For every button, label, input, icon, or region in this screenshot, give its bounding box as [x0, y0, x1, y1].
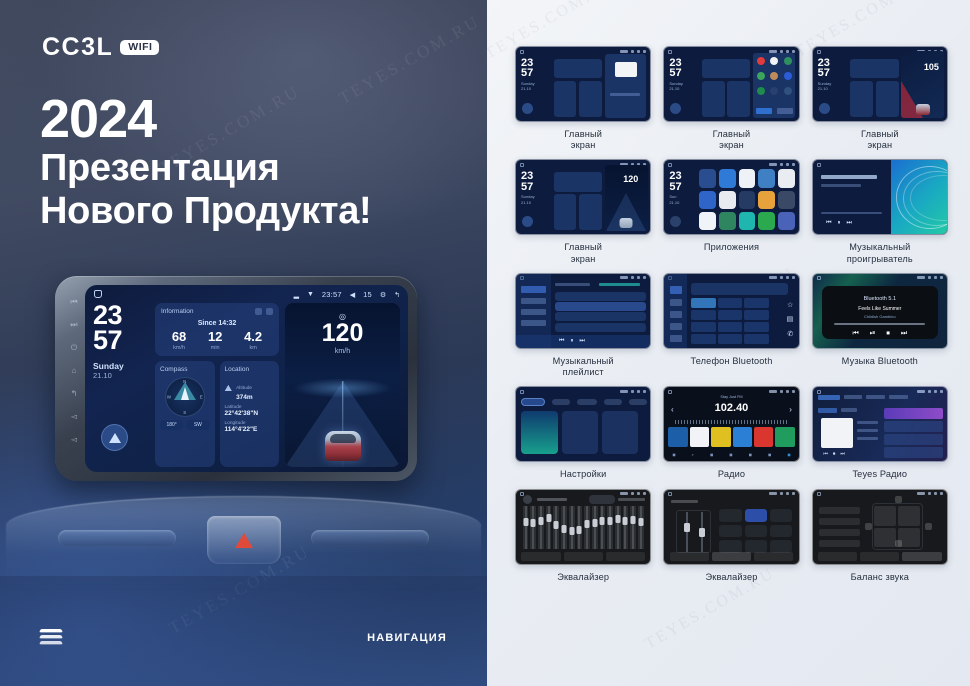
settings-tab[interactable]	[604, 399, 622, 405]
balance-tab[interactable]	[818, 552, 857, 561]
compass-s: S	[183, 410, 186, 415]
thumbnail-bluetooth-phone[interactable]: ☆ ▤ ✆	[663, 273, 799, 349]
equalizer-bands[interactable]	[523, 506, 644, 549]
gallery-item[interactable]: Bluetooth 5.1 Feels Like Summer Childish…	[812, 273, 948, 378]
next-station-icon[interactable]: ›	[789, 405, 792, 414]
gallery-item[interactable]: 2357 Sun21.10	[663, 159, 799, 264]
thumbnail-equalizer-presets[interactable]	[663, 489, 799, 565]
thumbnail-home-speed[interactable]: 2357 Sunday21.10 120	[515, 159, 651, 235]
balance-presets[interactable]	[819, 507, 859, 547]
bt-version: Bluetooth 5.1	[813, 296, 947, 302]
thumbnail-bluetooth-music[interactable]: Bluetooth 5.1 Feels Like Summer Childish…	[812, 273, 948, 349]
caption: Музыкальный плейлист	[553, 356, 614, 378]
next-track-key[interactable]: ⏭	[70, 321, 77, 329]
head-unit: ⏮ ⏭ ⏻ ⌂ ↰ ◅ ◅ ▂ ▼ 23:57	[55, 276, 417, 481]
mini-status-bar	[917, 492, 943, 495]
gallery-item[interactable]: Stay Just FM 102.40 ‹ › ◼	[663, 386, 799, 480]
signal-icon: ▂	[294, 291, 299, 299]
compass-heading: 180°	[160, 420, 183, 430]
caption: Приложения	[704, 242, 759, 253]
thumbnail-settings[interactable]	[515, 386, 651, 462]
dashboard-shadow	[0, 576, 487, 686]
caption: Телефон Bluetooth	[690, 356, 772, 367]
altitude-label: Altitude	[236, 386, 252, 391]
eq-preset[interactable]	[770, 509, 792, 522]
eq-preset[interactable]	[745, 525, 767, 538]
app-icon	[739, 169, 756, 187]
head-unit-side-keys[interactable]: ⏮ ⏭ ⏻ ⌂ ↰ ◅ ◅	[64, 298, 84, 444]
stat-value: 68	[172, 330, 186, 343]
navigation-arrow-icon[interactable]	[101, 424, 128, 451]
equalizer-tabs[interactable]	[670, 552, 794, 561]
station-row[interactable]	[884, 421, 943, 432]
album-art	[821, 418, 853, 448]
stop-icon[interactable]: ⏹	[886, 330, 890, 338]
caption: Музыкальный проигрыватель	[847, 242, 913, 264]
balance-preset[interactable]	[819, 529, 859, 536]
next-icon[interactable]: ⏭	[847, 220, 852, 227]
thumbnail-grid: 2357 Sunday21.10 Главный экран 23	[515, 46, 948, 583]
home-icon	[520, 163, 524, 167]
gallery-item[interactable]: Баланс звука	[812, 489, 948, 583]
latitude-value: 22°42'38"N	[225, 410, 275, 417]
speed-value: 120	[322, 321, 364, 346]
preset-6[interactable]	[775, 427, 794, 446]
call-icon[interactable]: ✆	[787, 330, 793, 338]
home-icon[interactable]	[94, 290, 102, 298]
station-row[interactable]	[884, 408, 943, 419]
balance-left-button[interactable]	[865, 523, 872, 530]
home-icon	[668, 50, 672, 54]
head-unit-screen[interactable]: ▂ ▼ 23:57 ◀ 15 ⚙ ↰ 23 57	[85, 285, 408, 472]
headline-block: 2024 Презентация Нового Продукта!	[40, 92, 371, 234]
traffic-tile[interactable]	[562, 411, 598, 454]
clock-minutes: 57	[93, 328, 149, 353]
head-unit-bezel: ⏮ ⏭ ⏻ ⌂ ↰ ◅ ◅ ▂ ▼ 23:57	[55, 276, 417, 481]
navigation-label: НАВИГАЦИЯ	[367, 632, 447, 644]
speed-value: 120	[623, 174, 638, 184]
gallery-item[interactable]: Настройки	[515, 386, 651, 480]
app-icon	[699, 212, 716, 230]
stat-unit: km	[244, 345, 262, 351]
app-icon	[758, 169, 775, 187]
screenshot-gallery: TEYES.COM.RU TEYES.COM.RU TEYES.COM.RU T…	[487, 0, 970, 686]
radio-tool-icon[interactable]: ◼	[672, 452, 675, 457]
stat-unit: min	[208, 345, 222, 351]
presentation-slide: TEYES.COM.RU TEYES.COM.RU TEYES.COM.RU C…	[0, 0, 970, 686]
caption: Главный экран	[713, 129, 751, 151]
mini-status-bar	[769, 276, 795, 279]
prev-icon[interactable]: ⏮	[823, 451, 828, 457]
home-icon	[817, 492, 821, 496]
prev-icon[interactable]: ⏮	[826, 220, 831, 227]
thumbnail-home-media[interactable]: 2357 Sunday21.10	[515, 46, 651, 122]
compass-direction: SW	[186, 420, 209, 430]
home-icon	[817, 276, 821, 280]
gallery-item[interactable]: Эквалайзер	[515, 489, 651, 583]
next-icon[interactable]: ⏭	[901, 330, 907, 338]
headline-line-1: Презентация	[40, 147, 371, 190]
mini-status-bar	[769, 492, 795, 495]
app-icon	[739, 212, 756, 230]
gallery-item[interactable]: 2357 Sunday21.10 120 Главный экран	[515, 159, 651, 264]
app-icon	[758, 212, 775, 230]
radio-tool-icon[interactable]: ◼	[710, 452, 713, 457]
app-icon	[739, 191, 756, 209]
thumbnail-playlist[interactable]: ⏮ ⏸ ⏭	[515, 273, 651, 349]
stat-item: 68 km/h	[172, 330, 186, 351]
back-arrow-icon[interactable]: ↰	[394, 291, 400, 299]
drive-assist-widget[interactable]: ◎ 120 km/h	[285, 303, 400, 467]
stat-item: 12 min	[208, 330, 222, 351]
eq-tab[interactable]	[712, 552, 751, 561]
home-icon	[668, 163, 672, 167]
stat-value: 12	[208, 330, 222, 343]
prev-icon[interactable]: ⏮	[559, 338, 564, 345]
stat-item: 4.2 km	[244, 330, 262, 351]
eq-tab[interactable]	[521, 552, 560, 561]
eq-avatar-icon	[523, 495, 532, 504]
thumbnail-radio[interactable]: Stay Just FM 102.40 ‹ › ◼	[663, 386, 799, 462]
eq-tab[interactable]	[754, 552, 793, 561]
prev-station-icon[interactable]: ‹	[671, 405, 674, 414]
eq-tab[interactable]	[606, 552, 645, 561]
back-key[interactable]: ↰	[71, 390, 78, 398]
refresh-icon[interactable]	[255, 308, 262, 315]
home-icon	[668, 390, 672, 394]
altitude-value: 374m	[236, 394, 253, 401]
thumbnail-music-player[interactable]: ⏮ ⏸ ⏭	[812, 159, 948, 235]
eq-tab[interactable]	[670, 552, 709, 561]
wifi-badge: WIFI	[120, 40, 159, 56]
radio-tool-icon[interactable]: ◼	[749, 452, 752, 457]
mini-status-bar	[769, 390, 795, 393]
home-icon	[520, 50, 524, 54]
preset-5[interactable]	[754, 427, 773, 446]
hazard-triangle-icon	[235, 533, 253, 548]
mini-status-bar	[620, 276, 646, 279]
home-screen-content: 23 57 Sunday 21.10	[93, 303, 400, 467]
volume-down-key[interactable]: ◅	[71, 413, 77, 421]
thumbnail-apps-grid[interactable]: 2357 Sun21.10	[663, 159, 799, 235]
brand-name: CC3L	[42, 33, 113, 62]
eq-tab[interactable]	[564, 552, 603, 561]
app-icon	[778, 191, 795, 209]
clock-weekday: Sunday	[93, 361, 149, 371]
caption: Эквалайзер	[557, 572, 609, 583]
mini-status-bar	[620, 50, 646, 53]
compass-widget[interactable]: Compass N S W E	[155, 361, 215, 467]
longitude-value: 114°4'22"E	[225, 426, 275, 433]
next-icon[interactable]: ⏭	[840, 451, 845, 457]
home-icon	[668, 492, 672, 496]
stat-unit: km/h	[172, 345, 186, 351]
eq-preset-button[interactable]	[589, 495, 615, 504]
caption: Музыка Bluetooth	[842, 356, 918, 367]
preset-2[interactable]	[690, 427, 709, 446]
station-row[interactable]	[884, 434, 943, 445]
eq-preset[interactable]	[719, 525, 741, 538]
stat-value: 4.2	[244, 330, 262, 343]
balance-preset[interactable]	[819, 540, 859, 547]
app-icon	[719, 169, 736, 187]
information-title: Information	[161, 308, 194, 315]
home-icon	[817, 50, 821, 54]
caption: Главный экран	[564, 242, 602, 264]
next-icon[interactable]: ⏭	[579, 338, 584, 345]
back-icon[interactable]	[670, 216, 681, 227]
radio-tool-icon[interactable]: ◼	[787, 452, 790, 457]
since-label: Since 14:32	[161, 320, 273, 327]
compass-w: W	[167, 395, 171, 400]
radio-band: Stay Just FM	[664, 395, 798, 399]
settings-tab[interactable]	[629, 399, 647, 405]
navigation-arrow-icon[interactable]	[670, 103, 681, 114]
caption: Teyes Радио	[852, 469, 907, 480]
play-pause-icon[interactable]: ⏯	[870, 330, 876, 338]
air-vent-left	[58, 530, 176, 546]
gallery-item[interactable]: 2357 Sunday21.10 Главный экран	[515, 46, 651, 151]
volume-up-key[interactable]: ◅	[71, 436, 77, 444]
balance-tab[interactable]	[860, 552, 899, 561]
eq-preset[interactable]	[745, 509, 767, 522]
wifi-tile[interactable]	[521, 411, 557, 454]
mini-status-bar	[917, 276, 943, 279]
status-bar: ▂ ▼ 23:57 ◀ 15 ⚙ ↰	[294, 290, 400, 299]
caption: Радио	[718, 469, 745, 480]
thumbnail-home-apps[interactable]: 2357 Sunday21.10	[663, 46, 799, 122]
volume-level: 15	[363, 290, 372, 299]
gear-icon[interactable]: ⚙	[380, 291, 386, 299]
compass-title: Compass	[160, 366, 187, 373]
home-icon	[520, 390, 524, 394]
balance-tabs[interactable]	[818, 552, 942, 561]
air-vent-right	[311, 530, 429, 546]
eq-preset[interactable]	[719, 509, 741, 522]
settings-tab-wifi[interactable]	[521, 398, 545, 406]
caption: Главный экран	[564, 129, 602, 151]
mountain-icon: ⛰	[225, 383, 233, 394]
preset-4[interactable]	[733, 427, 752, 446]
home-key[interactable]: ⌂	[72, 367, 77, 375]
gallery-item[interactable]: 2357 Sunday21.10 105 Главный экран	[812, 46, 948, 151]
tuner-scale[interactable]	[675, 420, 788, 424]
app-icon	[758, 191, 775, 209]
wifi-icon: ▼	[307, 291, 314, 298]
gallery-item[interactable]: ☆ ▤ ✆ Телефон Bluetooth	[663, 273, 799, 378]
star-icon[interactable]: ☆	[787, 301, 793, 309]
navigation-arrow-icon[interactable]	[522, 103, 533, 114]
compass-dial: N S W E	[165, 377, 205, 417]
speed-value: 105	[924, 62, 939, 72]
app-icon-grid[interactable]	[699, 169, 794, 230]
app-icon	[778, 212, 795, 230]
bt-artist: Childish Gambino	[813, 314, 947, 319]
navigation-arrow-icon[interactable]	[522, 216, 533, 227]
information-widget[interactable]: Information Since 14:32	[155, 303, 279, 356]
compass-needle-icon	[181, 387, 189, 400]
app-icon	[719, 212, 736, 230]
gallery-item[interactable]: 2357 Sunday21.10	[663, 46, 799, 151]
thumbnail-teyes-radio[interactable]: ⏮ ⏹ ⏭	[812, 386, 948, 462]
trip-stats: 68 km/h 12 min 4.2	[161, 330, 273, 351]
home-icon	[817, 390, 821, 394]
balance-down-button[interactable]	[895, 540, 902, 547]
headline-line-2: Нового Продукта!	[40, 190, 371, 233]
balance-preset[interactable]	[819, 518, 859, 525]
thumbnail-equalizer-bands[interactable]	[515, 489, 651, 565]
balance-right-button[interactable]	[925, 523, 932, 530]
status-time: 23:57	[322, 290, 342, 299]
compass-n: N	[183, 379, 186, 384]
mini-status-bar	[769, 163, 795, 166]
station-row[interactable]	[884, 447, 943, 458]
speed-unit: km/h	[335, 348, 350, 355]
equalizer-tabs[interactable]	[521, 552, 645, 561]
prev-icon[interactable]: ⏮	[852, 330, 858, 338]
pause-icon[interactable]: ⏸	[837, 220, 840, 227]
widgets-column: Information Since 14:32	[155, 303, 279, 467]
thumbnail-sound-balance[interactable]	[812, 489, 948, 565]
expand-icon[interactable]	[266, 308, 273, 315]
preset-1[interactable]	[668, 427, 687, 446]
hazard-light-button[interactable]	[207, 516, 281, 564]
caption: Баланс звука	[851, 572, 909, 583]
seat-front-left	[874, 506, 896, 526]
bt-track: Feels Like Summer	[813, 306, 947, 312]
balance-preset[interactable]	[819, 507, 859, 514]
home-icon	[817, 163, 821, 167]
thumbnail-home-drive[interactable]: 2357 Sunday21.10 105	[812, 46, 948, 122]
location-title: Location	[225, 366, 250, 373]
seat-rear-left	[874, 528, 896, 548]
headline-year: 2024	[40, 92, 371, 147]
mini-status-bar	[917, 390, 943, 393]
eq-preset[interactable]	[770, 525, 792, 538]
balance-up-button[interactable]	[895, 496, 902, 503]
app-icon	[778, 169, 795, 187]
layers-stack-icon	[40, 628, 62, 648]
app-icon	[699, 191, 716, 209]
clock-date: 21.10	[93, 371, 149, 380]
location-widget[interactable]: Location ⛰ Altitude 374m	[220, 361, 280, 467]
gallery-item[interactable]: ⏮ ⏸ ⏭ Музыкальный плейлист	[515, 273, 651, 378]
navigation-arrow-icon[interactable]	[819, 103, 830, 114]
car-dashboard-scene: ⏮ ⏭ ⏻ ⌂ ↰ ◅ ◅ ▂ ▼ 23:57	[0, 258, 487, 686]
balance-tab[interactable]	[902, 552, 941, 561]
car-3d-model	[325, 431, 361, 461]
hero-panel: TEYES.COM.RU TEYES.COM.RU TEYES.COM.RU C…	[0, 0, 487, 686]
app-icon	[719, 191, 736, 209]
caption: Настройки	[560, 469, 606, 480]
more-tile[interactable]	[602, 411, 638, 454]
caption: Главный экран	[861, 129, 899, 151]
preset-3[interactable]	[711, 427, 730, 446]
stop-icon[interactable]: ⏹	[833, 451, 836, 457]
contacts-icon[interactable]: ▤	[787, 315, 794, 323]
clock-widget[interactable]: 23 57 Sunday 21.10	[93, 303, 149, 467]
compass-e: E	[200, 395, 203, 400]
radio-frequency: 102.40	[664, 402, 798, 414]
brand-logo: CC3L WIFI	[42, 33, 159, 62]
gallery-item[interactable]: ⏮ ⏸ ⏭ Музыкальный проигрыватель	[812, 159, 948, 264]
settings-tab[interactable]	[552, 399, 570, 405]
pause-icon[interactable]: ⏸	[570, 338, 573, 345]
radio-tool-icon[interactable]: ◼	[729, 452, 732, 457]
prev-track-key[interactable]: ⏮	[70, 298, 77, 306]
seat-front-right	[898, 506, 920, 526]
app-icon	[699, 169, 716, 187]
search-icon[interactable]: ⌕	[692, 452, 694, 457]
power-key[interactable]: ⏻	[71, 344, 77, 352]
volume-icon: ◀	[350, 291, 355, 299]
gallery-item[interactable]: ⏮ ⏹ ⏭ Teyes Радио	[812, 386, 948, 480]
gallery-item[interactable]: Эквалайзер	[663, 489, 799, 583]
mini-status-bar	[620, 492, 646, 495]
settings-tab[interactable]	[577, 399, 597, 405]
mini-status-bar	[620, 390, 646, 393]
radio-tool-icon[interactable]: ◼	[768, 452, 771, 457]
